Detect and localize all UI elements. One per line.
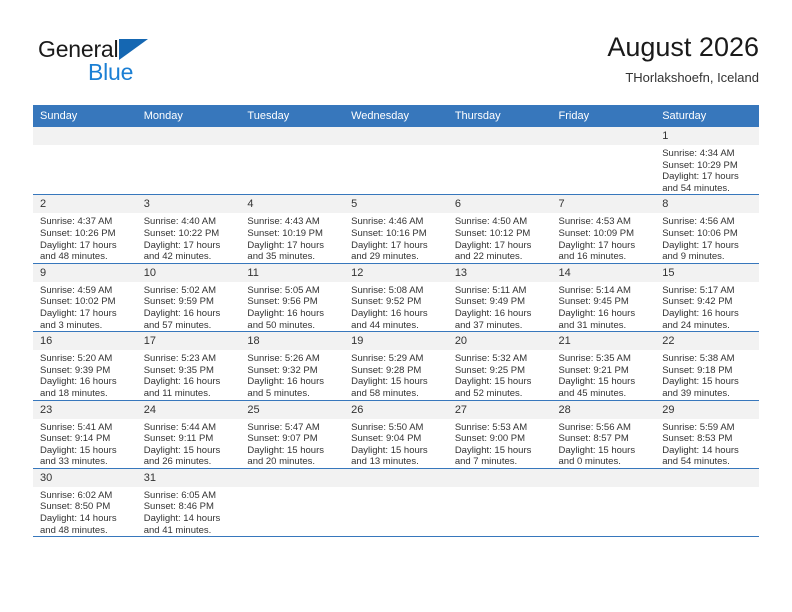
day-detail-line: Sunset: 9:56 PM — [247, 296, 338, 308]
calendar-day-cell[interactable]: 5Sunrise: 4:46 AMSunset: 10:16 PMDayligh… — [344, 195, 448, 263]
day-detail-line: Daylight: 16 hours — [351, 308, 442, 320]
day-detail-line: Daylight: 17 hours — [455, 240, 546, 252]
day-number: 26 — [344, 401, 448, 419]
calendar-empty-cell — [240, 127, 344, 195]
day-number: 30 — [33, 469, 137, 487]
day-detail-line: Sunrise: 4:53 AM — [559, 216, 650, 228]
day-detail-lines: Sunrise: 5:59 AMSunset: 8:53 PMDaylight:… — [655, 419, 759, 468]
day-detail-lines: Sunrise: 5:02 AMSunset: 9:59 PMDaylight:… — [137, 282, 241, 331]
day-detail-line: Sunrise: 5:26 AM — [247, 353, 338, 365]
day-detail-line: and 41 minutes. — [144, 525, 235, 537]
calendar-day-cell[interactable]: 1Sunrise: 4:34 AMSunset: 10:29 PMDayligh… — [655, 127, 759, 195]
day-detail-line: Sunrise: 4:40 AM — [144, 216, 235, 228]
page-header: General Blue August 2026 THorlakshoefn, … — [33, 30, 759, 92]
calendar-week-row: 30Sunrise: 6:02 AMSunset: 8:50 PMDayligh… — [33, 468, 759, 536]
day-number: 16 — [33, 332, 137, 350]
brand-logo: General Blue — [33, 36, 253, 92]
page-title: August 2026 — [607, 30, 759, 64]
weekday-header-row: Sunday Monday Tuesday Wednesday Thursday… — [33, 105, 759, 127]
day-detail-line: Sunset: 10:19 PM — [247, 228, 338, 240]
day-detail-line: and 57 minutes. — [144, 320, 235, 332]
day-detail-line: and 9 minutes. — [662, 251, 753, 263]
day-number: 4 — [240, 195, 344, 213]
calendar-day-cell[interactable]: 3Sunrise: 4:40 AMSunset: 10:22 PMDayligh… — [137, 195, 241, 263]
day-detail-lines: Sunrise: 5:26 AMSunset: 9:32 PMDaylight:… — [240, 350, 344, 399]
day-detail-line: Daylight: 15 hours — [662, 376, 753, 388]
day-detail-line: and 11 minutes. — [144, 388, 235, 400]
day-detail-lines — [552, 145, 656, 148]
day-detail-line: and 45 minutes. — [559, 388, 650, 400]
day-number — [448, 469, 552, 487]
day-number: 8 — [655, 195, 759, 213]
day-detail-line: Sunrise: 5:41 AM — [40, 422, 131, 434]
day-number — [33, 127, 137, 145]
day-detail-line: Sunrise: 4:34 AM — [662, 148, 753, 160]
day-detail-line: Sunset: 8:50 PM — [40, 501, 131, 513]
day-detail-lines: Sunrise: 4:50 AMSunset: 10:12 PMDaylight… — [448, 213, 552, 262]
day-detail-line: Sunset: 9:04 PM — [351, 433, 442, 445]
calendar-empty-cell — [137, 127, 241, 195]
day-detail-line: and 3 minutes. — [40, 320, 131, 332]
calendar-week-row: 1Sunrise: 4:34 AMSunset: 10:29 PMDayligh… — [33, 127, 759, 195]
day-detail-lines — [344, 487, 448, 490]
day-detail-line: Daylight: 16 hours — [144, 376, 235, 388]
day-detail-lines — [552, 487, 656, 490]
day-number: 12 — [344, 264, 448, 282]
page-subtitle: THorlakshoefn, Iceland — [607, 68, 759, 88]
day-number — [344, 127, 448, 145]
day-detail-line: Daylight: 16 hours — [662, 308, 753, 320]
day-detail-line: Sunrise: 5:29 AM — [351, 353, 442, 365]
day-detail-lines — [655, 487, 759, 490]
calendar-page: General Blue August 2026 THorlakshoefn, … — [0, 0, 792, 612]
day-number: 11 — [240, 264, 344, 282]
day-detail-line: and 33 minutes. — [40, 456, 131, 468]
day-detail-lines: Sunrise: 5:17 AMSunset: 9:42 PMDaylight:… — [655, 282, 759, 331]
day-detail-line: Sunrise: 5:47 AM — [247, 422, 338, 434]
day-detail-line: Daylight: 16 hours — [247, 308, 338, 320]
calendar-day-cell[interactable]: 8Sunrise: 4:56 AMSunset: 10:06 PMDayligh… — [655, 195, 759, 263]
day-detail-line: Daylight: 17 hours — [662, 240, 753, 252]
day-number: 15 — [655, 264, 759, 282]
calendar-day-cell[interactable]: 17Sunrise: 5:23 AMSunset: 9:35 PMDayligh… — [137, 332, 241, 400]
weekday-header-sunday: Sunday — [33, 105, 137, 127]
day-detail-line: and 24 minutes. — [662, 320, 753, 332]
day-number — [137, 127, 241, 145]
day-detail-line: Sunrise: 5:44 AM — [144, 422, 235, 434]
day-detail-line: and 58 minutes. — [351, 388, 442, 400]
title-block: August 2026 THorlakshoefn, Iceland — [607, 30, 759, 88]
day-number: 3 — [137, 195, 241, 213]
calendar-empty-cell — [344, 468, 448, 536]
day-detail-line: and 20 minutes. — [247, 456, 338, 468]
day-detail-line: Sunrise: 5:05 AM — [247, 285, 338, 297]
day-detail-lines: Sunrise: 4:43 AMSunset: 10:19 PMDaylight… — [240, 213, 344, 262]
day-detail-lines: Sunrise: 4:46 AMSunset: 10:16 PMDaylight… — [344, 213, 448, 262]
calendar-week-row: 9Sunrise: 4:59 AMSunset: 10:02 PMDayligh… — [33, 263, 759, 331]
day-detail-line: and 31 minutes. — [559, 320, 650, 332]
calendar-day-cell[interactable]: 19Sunrise: 5:29 AMSunset: 9:28 PMDayligh… — [344, 332, 448, 400]
day-number: 27 — [448, 401, 552, 419]
calendar-day-cell[interactable]: 31Sunrise: 6:05 AMSunset: 8:46 PMDayligh… — [137, 468, 241, 536]
day-detail-lines: Sunrise: 5:38 AMSunset: 9:18 PMDaylight:… — [655, 350, 759, 399]
day-detail-lines: Sunrise: 6:05 AMSunset: 8:46 PMDaylight:… — [137, 487, 241, 536]
day-detail-line: Sunset: 8:57 PM — [559, 433, 650, 445]
day-detail-lines: Sunrise: 4:34 AMSunset: 10:29 PMDaylight… — [655, 145, 759, 194]
calendar-grid: Sunday Monday Tuesday Wednesday Thursday… — [33, 105, 759, 537]
day-detail-line: Sunrise: 5:32 AM — [455, 353, 546, 365]
day-detail-line: Sunset: 9:07 PM — [247, 433, 338, 445]
brand-triangle-icon — [119, 39, 148, 60]
day-number: 9 — [33, 264, 137, 282]
day-detail-line: Daylight: 17 hours — [662, 171, 753, 183]
calendar-empty-cell — [448, 468, 552, 536]
day-detail-line: Daylight: 17 hours — [40, 240, 131, 252]
day-detail-lines: Sunrise: 4:53 AMSunset: 10:09 PMDaylight… — [552, 213, 656, 262]
day-detail-line: and 54 minutes. — [662, 183, 753, 195]
calendar-day-cell[interactable]: 27Sunrise: 5:53 AMSunset: 9:00 PMDayligh… — [448, 400, 552, 468]
day-detail-line: Sunset: 8:46 PM — [144, 501, 235, 513]
day-detail-line: Daylight: 15 hours — [559, 445, 650, 457]
day-detail-line: Sunrise: 4:59 AM — [40, 285, 131, 297]
day-detail-line: Sunrise: 6:05 AM — [144, 490, 235, 502]
day-detail-line: and 44 minutes. — [351, 320, 442, 332]
day-detail-lines: Sunrise: 5:50 AMSunset: 9:04 PMDaylight:… — [344, 419, 448, 468]
day-number — [344, 469, 448, 487]
calendar-day-cell[interactable]: 26Sunrise: 5:50 AMSunset: 9:04 PMDayligh… — [344, 400, 448, 468]
day-detail-line: Sunset: 9:11 PM — [144, 433, 235, 445]
day-number: 17 — [137, 332, 241, 350]
day-detail-line: and 48 minutes. — [40, 525, 131, 537]
day-detail-lines: Sunrise: 5:29 AMSunset: 9:28 PMDaylight:… — [344, 350, 448, 399]
day-detail-line: Daylight: 14 hours — [40, 513, 131, 525]
day-number: 2 — [33, 195, 137, 213]
day-detail-line: Sunset: 10:29 PM — [662, 160, 753, 172]
day-number — [448, 127, 552, 145]
day-detail-line: Sunset: 10:22 PM — [144, 228, 235, 240]
day-detail-line: Sunrise: 4:43 AM — [247, 216, 338, 228]
day-detail-line: Sunset: 9:49 PM — [455, 296, 546, 308]
calendar-empty-cell — [655, 468, 759, 536]
day-detail-line: Daylight: 16 hours — [144, 308, 235, 320]
calendar-day-cell[interactable]: 25Sunrise: 5:47 AMSunset: 9:07 PMDayligh… — [240, 400, 344, 468]
day-number: 28 — [552, 401, 656, 419]
calendar-day-cell[interactable]: 29Sunrise: 5:59 AMSunset: 8:53 PMDayligh… — [655, 400, 759, 468]
day-detail-line: Daylight: 15 hours — [144, 445, 235, 457]
day-detail-line: Daylight: 16 hours — [247, 376, 338, 388]
day-detail-line: Sunset: 9:00 PM — [455, 433, 546, 445]
day-detail-lines — [344, 145, 448, 148]
day-detail-line: Sunset: 9:39 PM — [40, 365, 131, 377]
day-detail-line: Sunrise: 5:23 AM — [144, 353, 235, 365]
day-detail-line: Sunrise: 5:38 AM — [662, 353, 753, 365]
calendar-week-row: 2Sunrise: 4:37 AMSunset: 10:26 PMDayligh… — [33, 195, 759, 263]
day-detail-line: Sunset: 9:28 PM — [351, 365, 442, 377]
day-detail-line: Daylight: 15 hours — [247, 445, 338, 457]
day-number: 14 — [552, 264, 656, 282]
day-detail-line: Sunset: 10:12 PM — [455, 228, 546, 240]
calendar-day-cell[interactable]: 2Sunrise: 4:37 AMSunset: 10:26 PMDayligh… — [33, 195, 137, 263]
day-detail-lines: Sunrise: 5:20 AMSunset: 9:39 PMDaylight:… — [33, 350, 137, 399]
day-detail-line: and 5 minutes. — [247, 388, 338, 400]
day-detail-line: and 13 minutes. — [351, 456, 442, 468]
day-detail-lines — [448, 145, 552, 148]
day-number: 1 — [655, 127, 759, 145]
day-number — [655, 469, 759, 487]
day-number — [240, 127, 344, 145]
weekday-header-saturday: Saturday — [655, 105, 759, 127]
day-detail-line: and 48 minutes. — [40, 251, 131, 263]
day-detail-lines: Sunrise: 4:40 AMSunset: 10:22 PMDaylight… — [137, 213, 241, 262]
day-detail-line: Sunset: 9:52 PM — [351, 296, 442, 308]
calendar-day-cell[interactable]: 10Sunrise: 5:02 AMSunset: 9:59 PMDayligh… — [137, 263, 241, 331]
day-detail-line: Daylight: 14 hours — [144, 513, 235, 525]
calendar-day-cell[interactable]: 9Sunrise: 4:59 AMSunset: 10:02 PMDayligh… — [33, 263, 137, 331]
day-number: 21 — [552, 332, 656, 350]
day-detail-line: Daylight: 17 hours — [40, 308, 131, 320]
day-detail-line: Sunrise: 6:02 AM — [40, 490, 131, 502]
calendar-day-cell[interactable]: 22Sunrise: 5:38 AMSunset: 9:18 PMDayligh… — [655, 332, 759, 400]
day-number: 22 — [655, 332, 759, 350]
calendar-empty-cell — [240, 468, 344, 536]
day-detail-line: Daylight: 15 hours — [559, 376, 650, 388]
day-number: 7 — [552, 195, 656, 213]
day-detail-lines: Sunrise: 4:56 AMSunset: 10:06 PMDaylight… — [655, 213, 759, 262]
day-detail-line: Sunset: 10:02 PM — [40, 296, 131, 308]
day-number: 24 — [137, 401, 241, 419]
day-detail-lines: Sunrise: 5:32 AMSunset: 9:25 PMDaylight:… — [448, 350, 552, 399]
calendar-day-cell[interactable]: 20Sunrise: 5:32 AMSunset: 9:25 PMDayligh… — [448, 332, 552, 400]
calendar-day-cell[interactable]: 7Sunrise: 4:53 AMSunset: 10:09 PMDayligh… — [552, 195, 656, 263]
day-detail-lines: Sunrise: 5:44 AMSunset: 9:11 PMDaylight:… — [137, 419, 241, 468]
day-detail-line: Sunrise: 5:11 AM — [455, 285, 546, 297]
day-detail-lines: Sunrise: 5:47 AMSunset: 9:07 PMDaylight:… — [240, 419, 344, 468]
weekday-header-tuesday: Tuesday — [240, 105, 344, 127]
day-detail-line: Daylight: 15 hours — [351, 376, 442, 388]
day-number: 31 — [137, 469, 241, 487]
day-detail-line: Daylight: 17 hours — [247, 240, 338, 252]
day-detail-line: Sunrise: 5:56 AM — [559, 422, 650, 434]
day-detail-line: Sunrise: 5:17 AM — [662, 285, 753, 297]
day-detail-line: and 22 minutes. — [455, 251, 546, 263]
day-detail-line: Daylight: 16 hours — [40, 376, 131, 388]
day-number: 13 — [448, 264, 552, 282]
day-detail-line: and 50 minutes. — [247, 320, 338, 332]
day-detail-line: Daylight: 16 hours — [559, 308, 650, 320]
day-detail-lines: Sunrise: 4:59 AMSunset: 10:02 PMDaylight… — [33, 282, 137, 331]
day-detail-line: and 35 minutes. — [247, 251, 338, 263]
day-detail-line: Sunrise: 5:50 AM — [351, 422, 442, 434]
day-number: 20 — [448, 332, 552, 350]
day-detail-line: Sunset: 10:26 PM — [40, 228, 131, 240]
calendar-week-row: 16Sunrise: 5:20 AMSunset: 9:39 PMDayligh… — [33, 332, 759, 400]
day-detail-line: Sunset: 8:53 PM — [662, 433, 753, 445]
day-detail-line: Sunset: 9:42 PM — [662, 296, 753, 308]
day-detail-lines: Sunrise: 5:11 AMSunset: 9:49 PMDaylight:… — [448, 282, 552, 331]
day-detail-lines: Sunrise: 6:02 AMSunset: 8:50 PMDaylight:… — [33, 487, 137, 536]
calendar-empty-cell — [344, 127, 448, 195]
day-detail-lines: Sunrise: 5:14 AMSunset: 9:45 PMDaylight:… — [552, 282, 656, 331]
day-detail-lines: Sunrise: 4:37 AMSunset: 10:26 PMDaylight… — [33, 213, 137, 262]
weekday-header-friday: Friday — [552, 105, 656, 127]
day-detail-line: Daylight: 17 hours — [351, 240, 442, 252]
day-detail-line: and 39 minutes. — [662, 388, 753, 400]
day-detail-lines: Sunrise: 5:08 AMSunset: 9:52 PMDaylight:… — [344, 282, 448, 331]
calendar-day-cell[interactable]: 6Sunrise: 4:50 AMSunset: 10:12 PMDayligh… — [448, 195, 552, 263]
calendar-day-cell[interactable]: 16Sunrise: 5:20 AMSunset: 9:39 PMDayligh… — [33, 332, 137, 400]
day-detail-lines — [448, 487, 552, 490]
day-number: 23 — [33, 401, 137, 419]
day-detail-line: Sunset: 10:09 PM — [559, 228, 650, 240]
day-detail-line: and 16 minutes. — [559, 251, 650, 263]
day-detail-line: and 26 minutes. — [144, 456, 235, 468]
day-number: 10 — [137, 264, 241, 282]
day-detail-line: Daylight: 17 hours — [559, 240, 650, 252]
calendar-body: 1Sunrise: 4:34 AMSunset: 10:29 PMDayligh… — [33, 127, 759, 537]
day-detail-line: Sunset: 9:21 PM — [559, 365, 650, 377]
calendar-day-cell[interactable]: 11Sunrise: 5:05 AMSunset: 9:56 PMDayligh… — [240, 263, 344, 331]
day-detail-line: and 54 minutes. — [662, 456, 753, 468]
day-number — [240, 469, 344, 487]
day-detail-line: Sunrise: 4:56 AM — [662, 216, 753, 228]
day-detail-line: Sunrise: 5:59 AM — [662, 422, 753, 434]
calendar-day-cell[interactable]: 15Sunrise: 5:17 AMSunset: 9:42 PMDayligh… — [655, 263, 759, 331]
day-detail-lines: Sunrise: 5:35 AMSunset: 9:21 PMDaylight:… — [552, 350, 656, 399]
calendar-day-cell[interactable]: 30Sunrise: 6:02 AMSunset: 8:50 PMDayligh… — [33, 468, 137, 536]
day-detail-line: Sunrise: 5:20 AM — [40, 353, 131, 365]
day-detail-line: Sunrise: 5:08 AM — [351, 285, 442, 297]
day-detail-line: Sunrise: 5:14 AM — [559, 285, 650, 297]
calendar-empty-cell — [552, 468, 656, 536]
day-detail-lines: Sunrise: 5:56 AMSunset: 8:57 PMDaylight:… — [552, 419, 656, 468]
day-number: 25 — [240, 401, 344, 419]
calendar-day-cell[interactable]: 18Sunrise: 5:26 AMSunset: 9:32 PMDayligh… — [240, 332, 344, 400]
calendar-day-cell[interactable]: 21Sunrise: 5:35 AMSunset: 9:21 PMDayligh… — [552, 332, 656, 400]
calendar-day-cell[interactable]: 24Sunrise: 5:44 AMSunset: 9:11 PMDayligh… — [137, 400, 241, 468]
calendar-day-cell[interactable]: 12Sunrise: 5:08 AMSunset: 9:52 PMDayligh… — [344, 263, 448, 331]
day-detail-line: Daylight: 14 hours — [662, 445, 753, 457]
day-detail-line: Sunrise: 5:35 AM — [559, 353, 650, 365]
day-detail-line: and 37 minutes. — [455, 320, 546, 332]
day-detail-lines: Sunrise: 5:53 AMSunset: 9:00 PMDaylight:… — [448, 419, 552, 468]
day-number: 19 — [344, 332, 448, 350]
day-detail-lines — [240, 487, 344, 490]
calendar-day-cell[interactable]: 23Sunrise: 5:41 AMSunset: 9:14 PMDayligh… — [33, 400, 137, 468]
day-number: 18 — [240, 332, 344, 350]
brand-name-bottom: Blue — [88, 59, 133, 85]
day-detail-line: Sunrise: 5:02 AM — [144, 285, 235, 297]
day-number: 29 — [655, 401, 759, 419]
day-detail-line: Sunset: 10:16 PM — [351, 228, 442, 240]
calendar-empty-cell — [33, 127, 137, 195]
day-detail-line: Sunset: 9:45 PM — [559, 296, 650, 308]
day-detail-line: Daylight: 16 hours — [455, 308, 546, 320]
day-detail-line: and 29 minutes. — [351, 251, 442, 263]
day-number: 5 — [344, 195, 448, 213]
day-detail-line: Daylight: 15 hours — [455, 445, 546, 457]
day-detail-line: Sunrise: 4:46 AM — [351, 216, 442, 228]
day-detail-line: and 0 minutes. — [559, 456, 650, 468]
day-detail-line: Daylight: 17 hours — [144, 240, 235, 252]
day-detail-line: and 42 minutes. — [144, 251, 235, 263]
day-detail-line: Sunset: 9:18 PM — [662, 365, 753, 377]
day-detail-line: Sunset: 9:25 PM — [455, 365, 546, 377]
day-detail-line: Daylight: 15 hours — [40, 445, 131, 457]
day-detail-line: Sunset: 9:32 PM — [247, 365, 338, 377]
weekday-header-thursday: Thursday — [448, 105, 552, 127]
day-detail-line: Daylight: 15 hours — [351, 445, 442, 457]
day-detail-line: and 52 minutes. — [455, 388, 546, 400]
calendar-day-cell[interactable]: 14Sunrise: 5:14 AMSunset: 9:45 PMDayligh… — [552, 263, 656, 331]
day-detail-line: Sunrise: 4:50 AM — [455, 216, 546, 228]
day-number — [552, 469, 656, 487]
day-detail-lines — [33, 145, 137, 148]
day-detail-line: Sunset: 10:06 PM — [662, 228, 753, 240]
day-detail-line: and 7 minutes. — [455, 456, 546, 468]
calendar-empty-cell — [552, 127, 656, 195]
day-detail-line: Daylight: 15 hours — [455, 376, 546, 388]
day-detail-lines: Sunrise: 5:41 AMSunset: 9:14 PMDaylight:… — [33, 419, 137, 468]
day-detail-line: Sunset: 9:35 PM — [144, 365, 235, 377]
day-number — [552, 127, 656, 145]
day-number: 6 — [448, 195, 552, 213]
calendar-day-cell[interactable]: 4Sunrise: 4:43 AMSunset: 10:19 PMDayligh… — [240, 195, 344, 263]
weekday-header-wednesday: Wednesday — [344, 105, 448, 127]
calendar-week-row: 23Sunrise: 5:41 AMSunset: 9:14 PMDayligh… — [33, 400, 759, 468]
calendar-day-cell[interactable]: 28Sunrise: 5:56 AMSunset: 8:57 PMDayligh… — [552, 400, 656, 468]
day-detail-line: and 18 minutes. — [40, 388, 131, 400]
day-detail-lines: Sunrise: 5:05 AMSunset: 9:56 PMDaylight:… — [240, 282, 344, 331]
day-detail-lines — [137, 145, 241, 148]
calendar-day-cell[interactable]: 13Sunrise: 5:11 AMSunset: 9:49 PMDayligh… — [448, 263, 552, 331]
day-detail-lines — [240, 145, 344, 148]
day-detail-lines: Sunrise: 5:23 AMSunset: 9:35 PMDaylight:… — [137, 350, 241, 399]
day-detail-line: Sunset: 9:14 PM — [40, 433, 131, 445]
day-detail-line: Sunrise: 4:37 AM — [40, 216, 131, 228]
day-detail-line: Sunrise: 5:53 AM — [455, 422, 546, 434]
calendar-empty-cell — [448, 127, 552, 195]
day-detail-line: Sunset: 9:59 PM — [144, 296, 235, 308]
weekday-header-monday: Monday — [137, 105, 241, 127]
